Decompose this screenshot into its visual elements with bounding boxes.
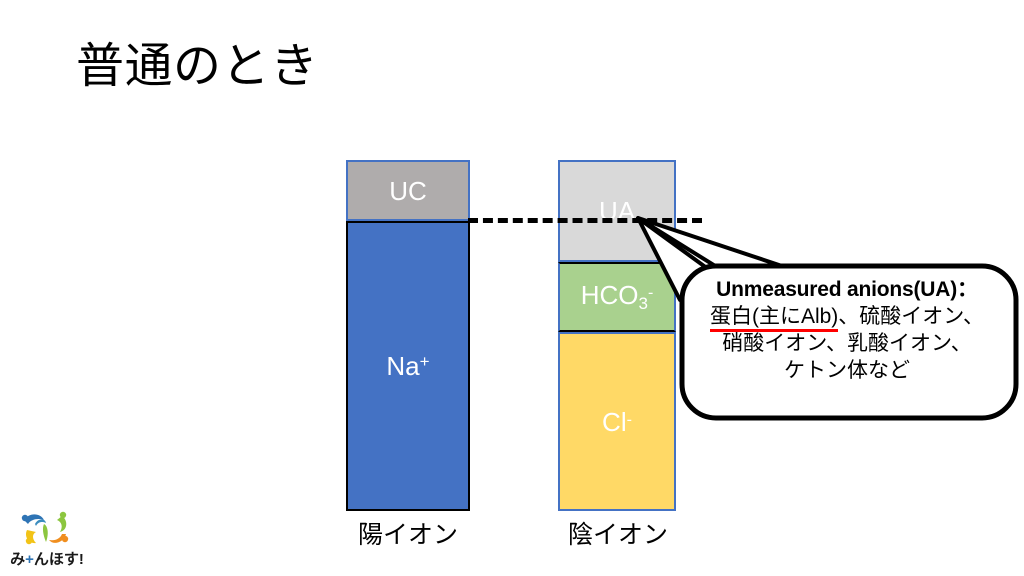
callout-line-1-rest: 、硫酸イオン、	[838, 305, 984, 328]
brand-logo-text: み+んほす!	[8, 551, 86, 569]
callout-line-3: ケトン体など	[682, 357, 1012, 384]
axis-label-cation: 陽イオン	[336, 520, 480, 550]
pinwheel-people-icon	[18, 508, 74, 552]
callout-unmeasured-anions: Unmeasured anions(UA)： 蛋白(主にAlb)、硫酸イオン、 …	[620, 200, 1020, 422]
bar-segment-na-label: Na+	[386, 353, 429, 379]
bar-segment-na: Na+	[346, 221, 470, 511]
callout-heading: Unmeasured anions(UA)：	[682, 276, 1012, 303]
axis-label-anion: 陰イオン	[548, 520, 688, 550]
logo-text-pre: み	[10, 551, 25, 568]
page-title: 普通のとき	[76, 38, 319, 96]
bar-segment-uc-label: UC	[389, 178, 427, 204]
logo-text-plus: +	[25, 551, 34, 568]
slide-canvas: 普通のとき UC Na+ UA HCO3- Cl- 陽イオン 陰イオン	[0, 0, 1024, 576]
callout-line-1: 蛋白(主にAlb)、硫酸イオン、	[682, 303, 1012, 330]
callout-underlined-term: 蛋白(主にAlb)	[710, 305, 838, 332]
callout-line-2: 硝酸イオン、乳酸イオン、	[682, 330, 1012, 357]
logo-text-post: んほす!	[34, 551, 84, 568]
bar-segment-uc: UC	[346, 160, 470, 221]
brand-logo: み+んほす!	[8, 508, 86, 572]
callout-text-block: Unmeasured anions(UA)： 蛋白(主にAlb)、硫酸イオン、 …	[682, 276, 1012, 384]
